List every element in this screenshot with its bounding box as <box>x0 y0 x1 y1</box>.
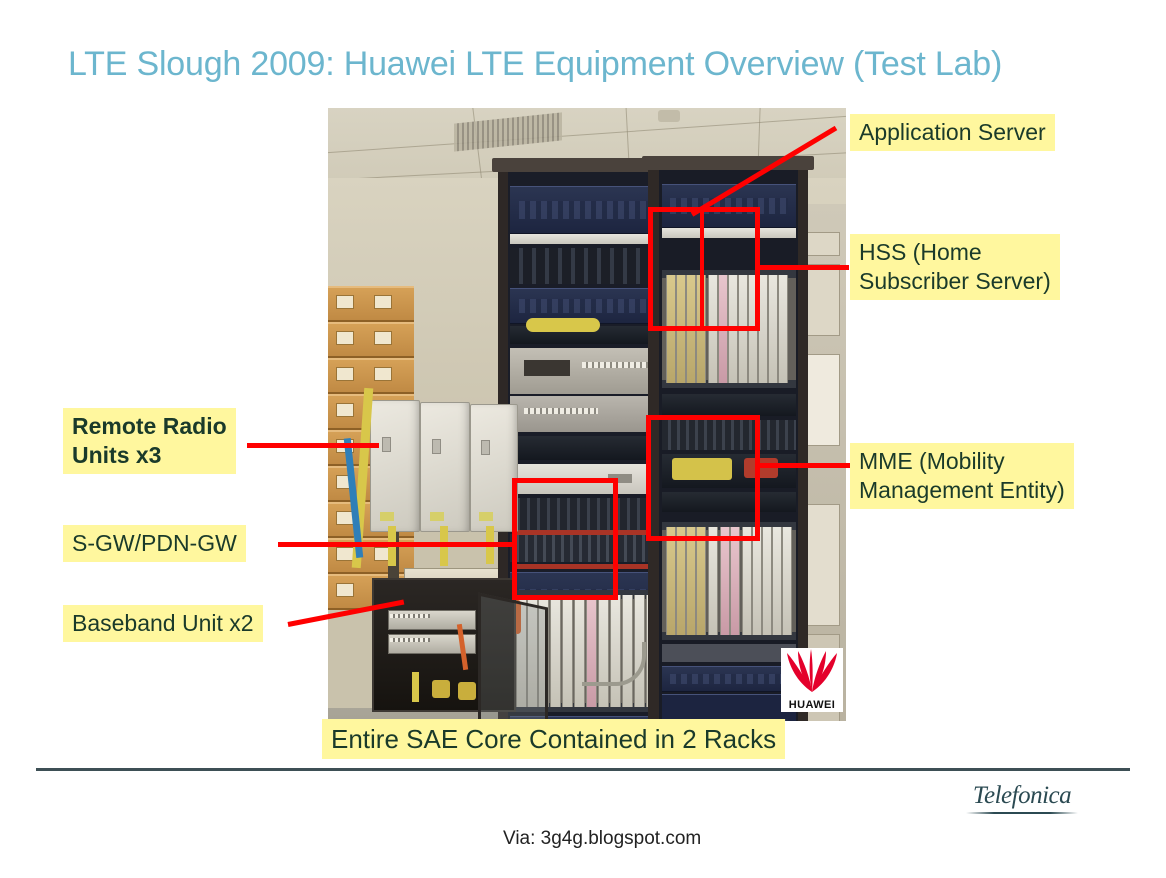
lab-photograph: HUAWEI <box>328 108 846 721</box>
telefonica-logo: Telefonica <box>966 782 1078 816</box>
hss-box-divider <box>700 207 704 331</box>
cabinet-door <box>478 593 548 721</box>
huawei-petal-icon <box>781 649 843 693</box>
page-title: LTE Slough 2009: Huawei LTE Equipment Ov… <box>68 44 1108 84</box>
label-baseband-unit: Baseband Unit x2 <box>63 605 263 642</box>
label-mme: MME (Mobility Management Entity) <box>850 443 1074 509</box>
huawei-logo: HUAWEI <box>781 648 843 712</box>
label-remote-radio-units: Remote Radio Units x3 <box>63 408 236 474</box>
remote-radio-unit-3 <box>470 404 518 532</box>
huawei-wordmark: HUAWEI <box>781 699 843 711</box>
hss-highlight-box <box>648 207 760 331</box>
label-application-server: Application Server <box>850 114 1055 151</box>
footer-divider <box>36 768 1130 771</box>
label-sgw-pdngw: S-GW/PDN-GW <box>63 525 246 562</box>
leader-sgw <box>278 542 516 547</box>
mme-highlight-box <box>646 415 760 541</box>
leader-remote-radio-units <box>247 443 379 448</box>
source-attribution: Via: 3g4g.blogspot.com <box>503 828 701 850</box>
label-hss: HSS (Home Subscriber Server) <box>850 234 1060 300</box>
leader-hss <box>757 265 849 270</box>
telefonica-underline <box>966 812 1078 814</box>
slide-canvas: LTE Slough 2009: Huawei LTE Equipment Ov… <box>0 0 1166 878</box>
caption-sae-core: Entire SAE Core Contained in 2 Racks <box>322 719 785 759</box>
leader-mme <box>757 463 851 468</box>
remote-radio-unit-1 <box>370 400 420 532</box>
remote-radio-unit-2 <box>420 402 470 532</box>
sgw-highlight-box <box>512 478 618 600</box>
